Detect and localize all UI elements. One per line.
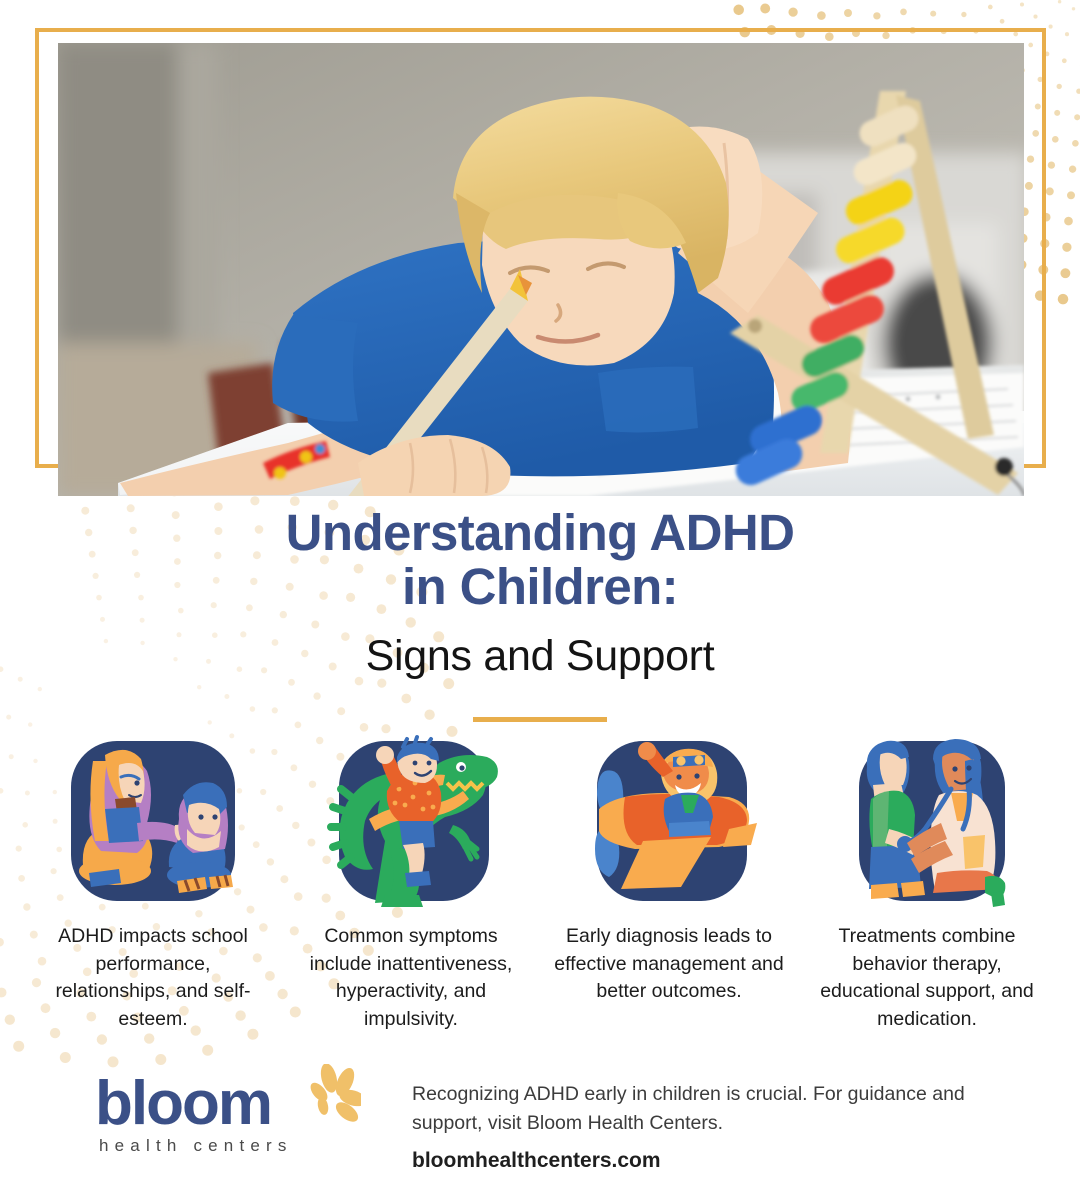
info-card-caption: Early diagnosis leads to effective manag…: [554, 923, 784, 1006]
info-card: Treatments combine behavior therapy, edu…: [798, 737, 1056, 1034]
info-card: Early diagnosis leads to effective manag…: [540, 737, 798, 1034]
adult-comforting-seated-child-icon: [53, 737, 253, 909]
logo-tagline: health centers: [95, 1136, 415, 1156]
title-divider-rule: [473, 717, 607, 722]
bloom-health-centers-logo[interactable]: bloom health centers: [95, 1070, 415, 1156]
flower-petals-icon: [289, 1064, 361, 1126]
page-title-line2: in Children:: [0, 560, 1080, 614]
title-block: Understanding ADHD in Children: Signs an…: [0, 506, 1080, 722]
child-riding-dinosaur-icon: [311, 737, 511, 909]
info-card-caption: Treatments combine behavior therapy, edu…: [812, 923, 1042, 1034]
info-card-caption: Common symptoms include inattentiveness,…: [296, 923, 526, 1034]
info-card-caption: ADHD impacts school performance, relatio…: [38, 923, 268, 1034]
logo-wordmark: bloom: [95, 1069, 271, 1138]
info-card: Common symptoms include inattentiveness,…: [282, 737, 540, 1034]
page-title: Understanding ADHD in Children:: [0, 506, 1080, 614]
info-card-list: ADHD impacts school performance, relatio…: [24, 737, 1056, 1034]
footer-description: Recognizing ADHD early in children is cr…: [412, 1080, 1022, 1139]
doctor-examining-child-with-stethoscope-icon: [827, 737, 1027, 909]
page-title-line1: Understanding ADHD: [0, 506, 1080, 560]
footer: bloom health centers Recognizing ADHD ea…: [0, 1062, 1080, 1200]
website-url[interactable]: bloomhealthcenters.com: [412, 1149, 1022, 1173]
child-pilot-in-airplane-icon: [569, 737, 769, 909]
page-subtitle: Signs and Support: [0, 632, 1080, 681]
footer-text-block: Recognizing ADHD early in children is cr…: [412, 1080, 1022, 1173]
info-card: ADHD impacts school performance, relatio…: [24, 737, 282, 1034]
hero-photo: [58, 43, 1024, 496]
